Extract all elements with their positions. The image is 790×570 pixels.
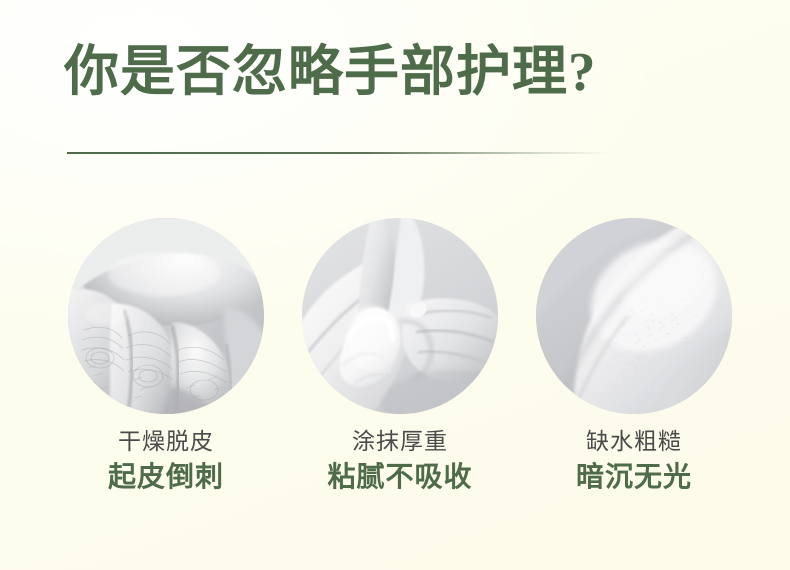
caption-bottom-text: 起皮倒刺 — [108, 460, 224, 496]
problem-card: 缺水粗糙 暗沉无光 — [534, 218, 734, 496]
thick-cream-application-photo — [302, 218, 498, 414]
problem-card: 干燥脱皮 起皮倒刺 — [66, 218, 266, 496]
caption-block: 缺水粗糙 暗沉无光 — [576, 427, 692, 496]
caption-top-text: 干燥脱皮 — [108, 427, 224, 456]
caption-top-text: 缺水粗糙 — [576, 427, 692, 456]
caption-bottom-text: 暗沉无光 — [576, 460, 692, 496]
title-divider — [67, 152, 612, 154]
rough-dull-skin-photo — [536, 218, 732, 414]
page-title: 你是否忽略手部护理? — [64, 44, 744, 99]
problem-card: 涂抹厚重 粘腻不吸收 — [300, 218, 500, 496]
caption-block: 干燥脱皮 起皮倒刺 — [108, 427, 224, 496]
caption-top-text: 涂抹厚重 — [327, 427, 472, 456]
problem-cards-row: 干燥脱皮 起皮倒刺 — [66, 218, 734, 496]
header: 你是否忽略手部护理? — [64, 44, 744, 99]
caption-block: 涂抹厚重 粘腻不吸收 — [327, 427, 472, 496]
promo-page: 你是否忽略手部护理? — [0, 0, 790, 570]
dry-peeling-fingers-photo — [68, 218, 264, 414]
caption-bottom-text: 粘腻不吸收 — [327, 460, 472, 496]
